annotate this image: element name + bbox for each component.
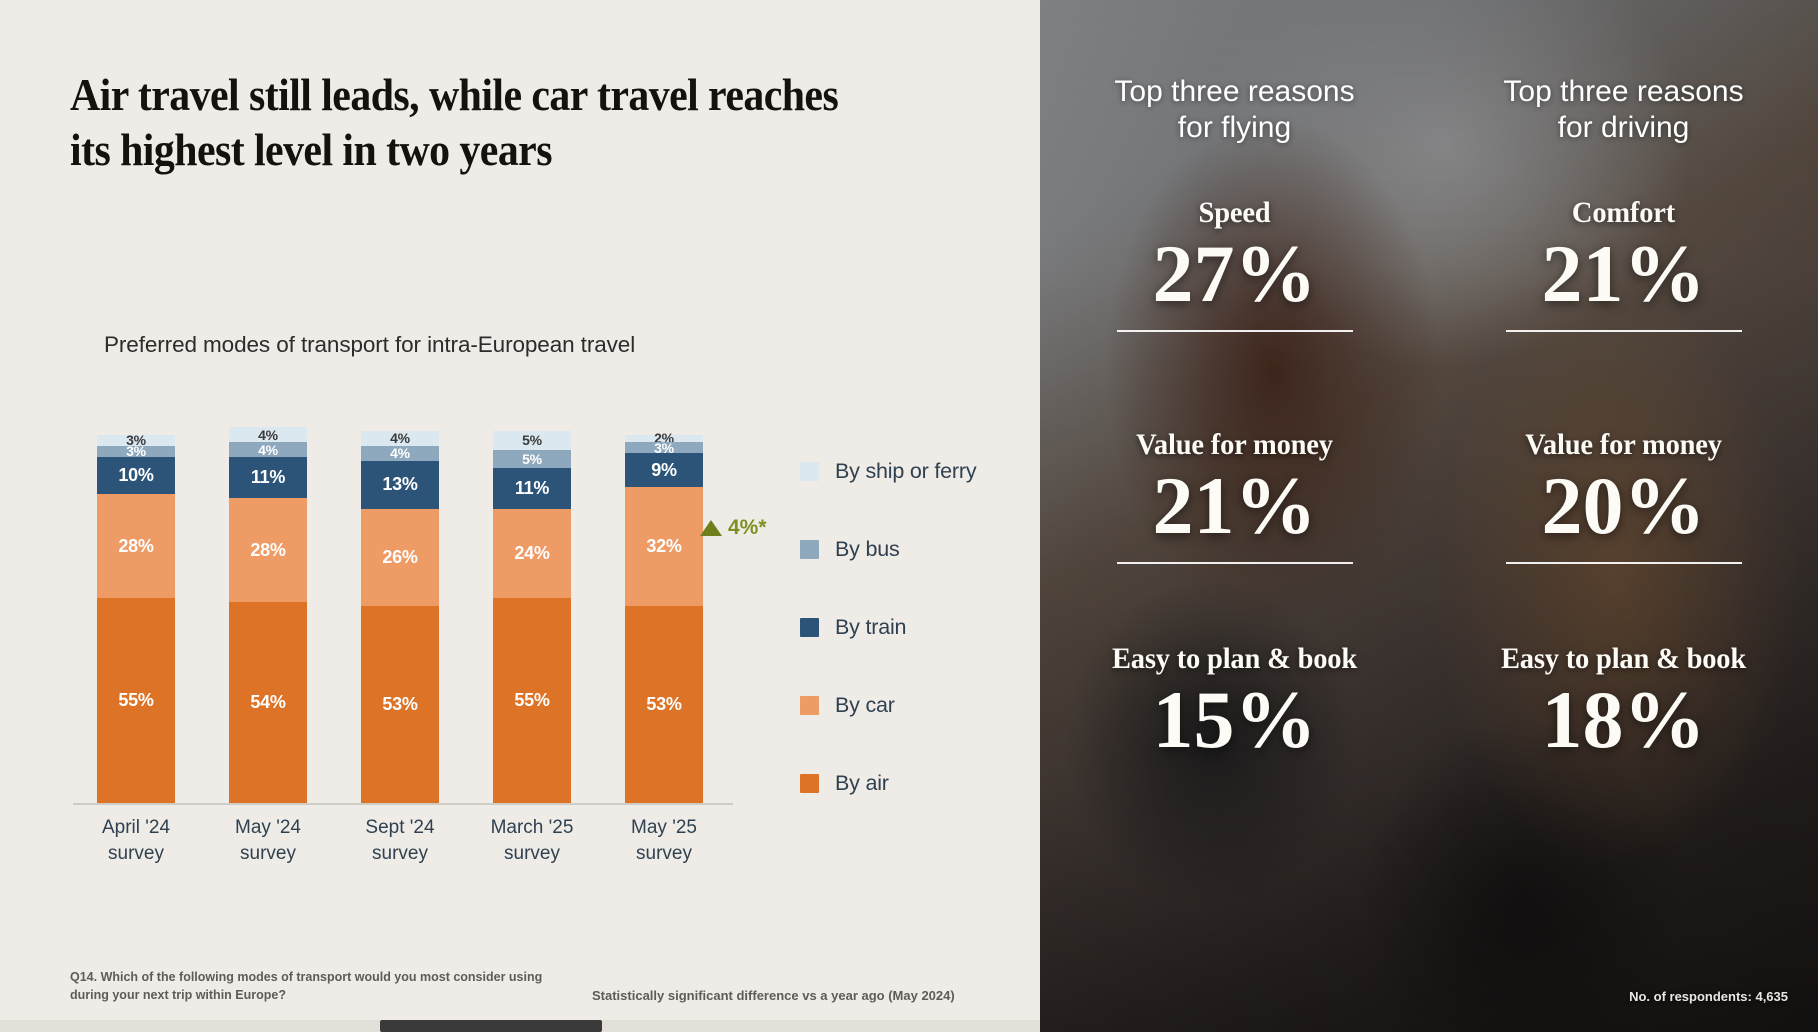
- x-axis-label: May '24survey: [202, 815, 334, 866]
- legend-swatch: [800, 696, 819, 715]
- legend-label: By car: [835, 693, 895, 718]
- legend-item[interactable]: By train: [800, 588, 1020, 666]
- bar-segment: 28%: [97, 494, 175, 598]
- bar-segment-label: 5%: [522, 432, 542, 448]
- bar-segment: 11%: [493, 468, 571, 509]
- footnote-question: Q14. Which of the following modes of tra…: [70, 968, 550, 1004]
- reason-stat-label: Comfort: [1439, 196, 1809, 230]
- legend-label: By air: [835, 771, 889, 796]
- x-axis-label-line: survey: [466, 841, 598, 867]
- reasons-heading-line: Top three reasons: [1429, 74, 1818, 110]
- bar-segment: 13%: [361, 461, 439, 509]
- chart-legend: By ship or ferryBy busBy trainBy carBy a…: [800, 432, 1020, 822]
- reasons-column-heading: Top three reasonsfor flying: [1040, 74, 1429, 146]
- legend-item[interactable]: By bus: [800, 510, 1020, 588]
- bar-segment-label: 53%: [646, 694, 681, 715]
- bar-segment-label: 5%: [522, 451, 542, 467]
- reason-stat: Comfort21%: [1429, 196, 1818, 332]
- reasons-heading-line: for driving: [1429, 110, 1818, 146]
- legend-swatch: [800, 618, 819, 637]
- bar-segment-label: 13%: [382, 474, 417, 495]
- x-axis-label: Sept '24survey: [334, 815, 466, 866]
- slide: Air travel still leads, while car travel…: [0, 0, 1818, 1032]
- bar-segment: 5%: [493, 450, 571, 469]
- x-axis-label-line: April '24: [70, 815, 202, 841]
- bar-segment: 24%: [493, 509, 571, 598]
- legend-swatch: [800, 462, 819, 481]
- x-axis-line: [73, 803, 733, 805]
- stat-divider: [1506, 330, 1742, 332]
- legend-swatch: [800, 774, 819, 793]
- bar-segment: 4%: [361, 431, 439, 446]
- bar-segment-label: 11%: [251, 467, 285, 488]
- bar-segment-label: 10%: [118, 465, 153, 486]
- x-axis-label-line: Sept '24: [334, 815, 466, 841]
- bar-segment-label: 55%: [514, 690, 549, 711]
- legend-label: By ship or ferry: [835, 459, 976, 484]
- bar-segment: 4%: [361, 446, 439, 461]
- bar-segment-label: 4%: [390, 430, 410, 446]
- bar-segment: 5%: [493, 431, 571, 450]
- reason-stat-label: Easy to plan & book: [1050, 642, 1420, 676]
- x-axis-label: March '25survey: [466, 815, 598, 866]
- page-title: Air travel still leads, while car travel…: [70, 68, 851, 178]
- x-axis-label-line: May '25: [598, 815, 730, 841]
- reason-stat-label: Easy to plan & book: [1439, 642, 1809, 676]
- bar-segment: 55%: [97, 598, 175, 803]
- stat-divider: [1506, 562, 1742, 564]
- bar-segment: 3%: [625, 442, 703, 453]
- stacked-bar: 4%4%11%28%54%: [229, 395, 307, 803]
- x-axis-label-line: survey: [334, 841, 466, 867]
- legend-item[interactable]: By air: [800, 744, 1020, 822]
- legend-item[interactable]: By car: [800, 666, 1020, 744]
- x-axis-label-line: survey: [202, 841, 334, 867]
- reason-stat-value: 21%: [1040, 464, 1429, 548]
- bar-segment-label: 54%: [250, 692, 285, 713]
- bar-column: 3%3%10%28%55%: [70, 395, 202, 803]
- bar-segment: 53%: [625, 606, 703, 803]
- reason-stat-value: 18%: [1429, 678, 1818, 762]
- bar-segment: 11%: [229, 457, 307, 498]
- bar-segment-label: 53%: [382, 694, 417, 715]
- bar-group: 3%3%10%28%55%4%4%11%28%54%4%4%13%26%53%5…: [70, 395, 730, 803]
- bar-segment-label: 4%: [258, 427, 278, 443]
- reason-stat-value: 15%: [1040, 678, 1429, 762]
- legend-label: By train: [835, 615, 906, 640]
- legend-item[interactable]: By ship or ferry: [800, 432, 1020, 510]
- reasons-column-heading: Top three reasonsfor driving: [1429, 74, 1818, 146]
- bar-segment: 9%: [625, 453, 703, 486]
- footnote-significance: Statistically significant difference vs …: [592, 988, 955, 1003]
- bar-segment: 26%: [361, 509, 439, 606]
- bar-segment-label: 28%: [118, 536, 153, 557]
- reason-stat-label: Value for money: [1050, 428, 1420, 462]
- horizontal-scrollbar[interactable]: [0, 1020, 1040, 1032]
- photo-panel: Top three reasonsfor flyingSpeed27%Value…: [1040, 0, 1818, 1032]
- chart-panel: Air travel still leads, while car travel…: [0, 0, 1040, 1032]
- reason-stat-label: Value for money: [1439, 428, 1809, 462]
- reasons-column: Top three reasonsfor flyingSpeed27%Value…: [1040, 0, 1429, 1032]
- reason-stat: Speed27%: [1040, 196, 1429, 332]
- bar-segment-label: 4%: [390, 445, 410, 461]
- respondents-note: No. of respondents: 4,635: [1629, 989, 1788, 1004]
- bar-column: 4%4%13%26%53%: [334, 395, 466, 803]
- reason-stat: Easy to plan & book15%: [1040, 642, 1429, 762]
- reason-stat-value: 27%: [1040, 232, 1429, 316]
- bar-segment-label: 32%: [646, 536, 681, 557]
- bar-segment-label: 4%: [258, 442, 278, 458]
- reason-stat: Value for money21%: [1040, 428, 1429, 564]
- stacked-bar: 2%3%9%32%53%: [625, 395, 703, 803]
- stacked-bar: 4%4%13%26%53%: [361, 395, 439, 803]
- stacked-bar: 5%5%11%24%55%: [493, 395, 571, 803]
- bar-segment: 55%: [493, 598, 571, 803]
- legend-swatch: [800, 540, 819, 559]
- x-axis-label-line: March '25: [466, 815, 598, 841]
- bar-segment-label: 9%: [651, 460, 676, 481]
- stat-divider: [1117, 330, 1353, 332]
- scrollbar-thumb[interactable]: [380, 1020, 602, 1032]
- x-axis-label: May '25survey: [598, 815, 730, 866]
- reason-stat: Easy to plan & book18%: [1429, 642, 1818, 762]
- reason-stat-value: 21%: [1429, 232, 1818, 316]
- reason-stat: Value for money20%: [1429, 428, 1818, 564]
- bar-segment: 4%: [229, 442, 307, 457]
- stat-divider: [1117, 562, 1353, 564]
- bar-segment: 53%: [361, 606, 439, 803]
- reasons-column: Top three reasonsfor drivingComfort21%Va…: [1429, 0, 1818, 1032]
- x-axis-label-line: survey: [70, 841, 202, 867]
- x-axis-labels: April '24surveyMay '24surveySept '24surv…: [70, 815, 730, 866]
- x-axis-label-line: survey: [598, 841, 730, 867]
- reason-stat-label: Speed: [1050, 196, 1420, 230]
- bar-segment: 28%: [229, 498, 307, 602]
- reasons-grid: Top three reasonsfor flyingSpeed27%Value…: [1040, 0, 1818, 1032]
- bar-column: 5%5%11%24%55%: [466, 395, 598, 803]
- chart-title: Preferred modes of transport for intra-E…: [104, 332, 635, 358]
- bar-segment-label: 24%: [514, 543, 549, 564]
- x-axis-label-line: May '24: [202, 815, 334, 841]
- bar-segment-label: 11%: [515, 478, 549, 499]
- x-axis-label: April '24survey: [70, 815, 202, 866]
- bar-segment: 32%: [625, 487, 703, 606]
- triangle-up-icon: [700, 520, 722, 536]
- bar-column: 4%4%11%28%54%: [202, 395, 334, 803]
- reason-stat-value: 20%: [1429, 464, 1818, 548]
- reasons-heading-line: for flying: [1040, 110, 1429, 146]
- bar-segment-label: 26%: [382, 547, 417, 568]
- bar-column: 2%3%9%32%53%: [598, 395, 730, 803]
- delta-annotation-label: 4%*: [728, 516, 767, 540]
- bar-segment: 4%: [229, 427, 307, 442]
- bar-segment-label: 28%: [250, 540, 285, 561]
- bar-segment: 54%: [229, 602, 307, 803]
- reasons-heading-line: Top three reasons: [1040, 74, 1429, 110]
- bar-segment: 10%: [97, 457, 175, 494]
- bar-segment-label: 55%: [118, 690, 153, 711]
- delta-annotation: 4%*: [700, 516, 767, 540]
- stacked-bar-chart: 3%3%10%28%55%4%4%11%28%54%4%4%13%26%53%5…: [70, 395, 730, 805]
- stacked-bar: 3%3%10%28%55%: [97, 395, 175, 803]
- bar-segment: 3%: [97, 446, 175, 457]
- legend-label: By bus: [835, 537, 900, 562]
